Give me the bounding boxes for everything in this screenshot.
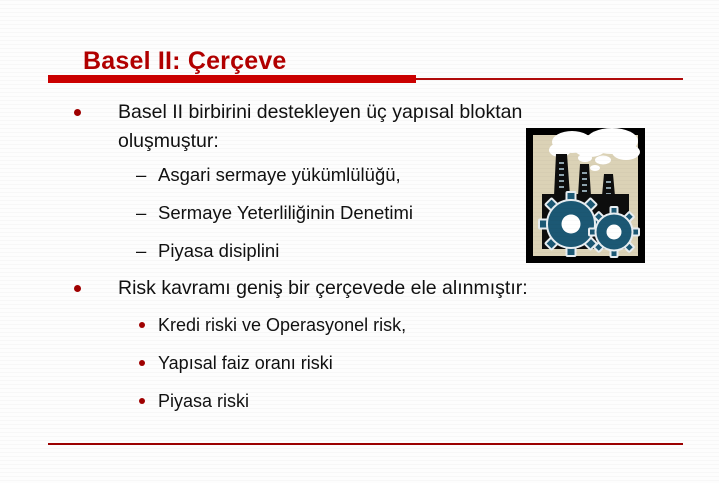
bullet-item-level1: Risk kavramı geniş bir çerçevede ele alı…	[0, 270, 719, 306]
bullet-dot-icon	[139, 398, 145, 404]
bullet-item-level3: Piyasa riski	[0, 382, 719, 420]
dash-bullet-icon: –	[136, 156, 146, 194]
factory-gears-image	[526, 128, 645, 263]
title-divider-thin	[416, 78, 683, 80]
gear-right-icon	[589, 207, 639, 257]
footer-divider	[48, 443, 683, 445]
dash-bullet-icon: –	[136, 194, 146, 232]
bullet-text: Asgari sermaye yükümlülüğü,	[158, 164, 401, 185]
bullet-dot-icon	[74, 285, 81, 292]
bullet-text-line1: Basel II birbirini destekleyen üç yapısa…	[118, 98, 719, 127]
slide-canvas: Basel II: Çerçeve Basel II birbirini des…	[0, 0, 719, 483]
bullet-text: Piyasa disiplini	[158, 240, 279, 261]
bullet-text: Piyasa riski	[158, 391, 249, 411]
page-title: Basel II: Çerçeve	[83, 47, 287, 76]
dash-bullet-icon: –	[136, 232, 146, 270]
bullet-dot-icon	[139, 322, 145, 328]
title-divider-thick	[48, 75, 416, 83]
bullet-dot-icon	[74, 109, 81, 116]
bullet-item-level3: Yapısal faiz oranı riski	[0, 344, 719, 382]
bullet-text: Risk kavramı geniş bir çerçevede ele alı…	[118, 277, 528, 299]
bullet-dot-icon	[139, 360, 145, 366]
bullet-text: Yapısal faiz oranı riski	[158, 353, 333, 373]
bullet-text: Kredi riski ve Operasyonel risk,	[158, 315, 406, 335]
factory-gears-icon	[526, 128, 645, 263]
bullet-text: Sermaye Yeterliliğinin Denetimi	[158, 202, 413, 223]
bullet-item-level3: Kredi riski ve Operasyonel risk,	[0, 306, 719, 344]
